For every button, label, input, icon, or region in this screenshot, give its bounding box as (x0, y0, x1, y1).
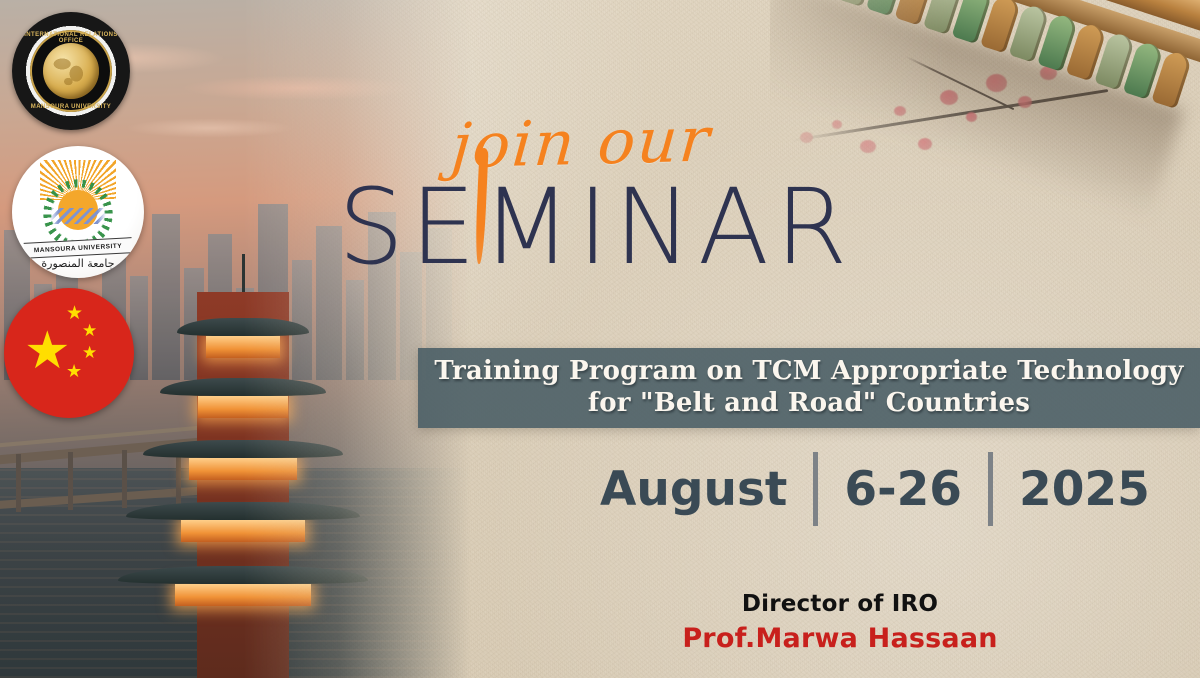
subtitle-line-2: for "Belt and Road" Countries (434, 388, 1183, 420)
mansoura-university-logo: MANSOURA UNIVERSITY جامعة المنصورة (12, 146, 144, 278)
seminar-poster: join our SEMINAR Training Program on TCM… (0, 0, 1200, 678)
signature-block: Director of IRO Prof.Marwa Hassaan (640, 590, 1040, 656)
subtitle-text: Training Program on TCM Appropriate Tech… (434, 356, 1183, 419)
date-year: 2025 (993, 466, 1176, 513)
subtitle-banner: Training Program on TCM Appropriate Tech… (418, 348, 1200, 428)
date-row: August 6-26 2025 (600, 452, 1176, 526)
page-title: SEMINAR (338, 175, 853, 279)
flag-star-large-icon: ★ (24, 325, 71, 377)
flag-star-small-icon: ★ (66, 304, 83, 323)
university-arabic-text: جامعة المنصورة (12, 257, 144, 270)
seal-arc-bottom-text: MANSOURA UNIVERSITY (12, 104, 130, 110)
flag-star-small-icon: ★ (82, 322, 97, 339)
subtitle-line-1: Training Program on TCM Appropriate Tech… (434, 356, 1183, 388)
international-relations-office-logo: INTERNATIONAL RELATIONS OFFICE MANSOURA … (12, 12, 130, 130)
director-role: Director of IRO (640, 590, 1040, 619)
china-flag-logo: ★ ★ ★ ★ ★ (4, 288, 134, 418)
flag-star-small-icon: ★ (82, 344, 97, 361)
director-name: Prof.Marwa Hassaan (640, 622, 1040, 656)
date-days: 6-26 (818, 466, 988, 513)
chinese-pagoda (118, 262, 368, 678)
flag-star-small-icon: ★ (66, 362, 82, 380)
date-month: August (600, 466, 813, 513)
globe-icon (43, 43, 99, 99)
water-waves-icon (50, 208, 106, 224)
